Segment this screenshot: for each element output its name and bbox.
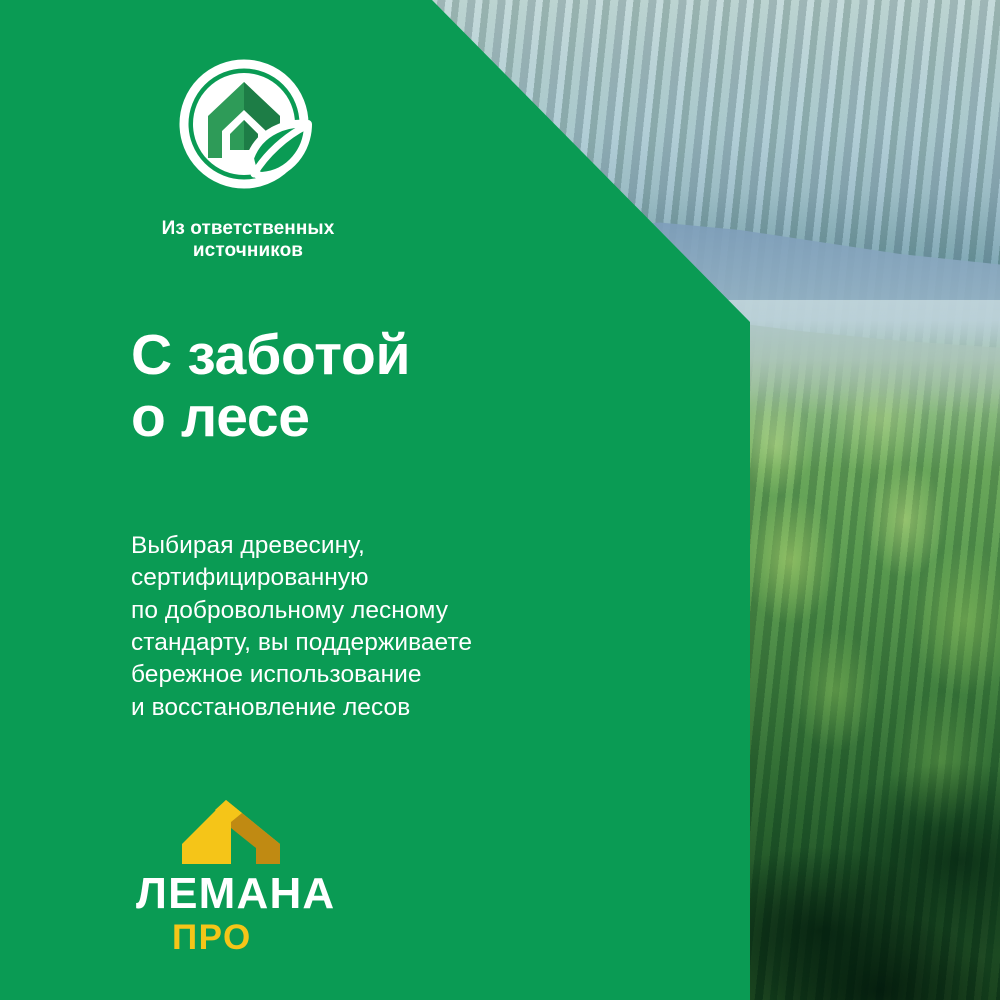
- brand-name: ЛЕМАНА: [136, 872, 335, 916]
- lemana-house-icon: [168, 798, 320, 866]
- page-title: С заботой о лесе: [131, 325, 410, 448]
- eco-badge-caption: Из ответственных источников: [128, 218, 368, 263]
- eco-badge: Из ответственных источников: [128, 58, 368, 263]
- body-paragraph: Выбирая древесину, сертифицированную по …: [131, 530, 472, 724]
- house-leaf-circle-icon: [174, 58, 322, 206]
- promo-poster: Из ответственных источников С заботой о …: [0, 0, 1000, 1000]
- brand-sub: ПРО: [172, 920, 335, 955]
- brand-logo: ЛЕМАНА ПРО: [136, 798, 335, 955]
